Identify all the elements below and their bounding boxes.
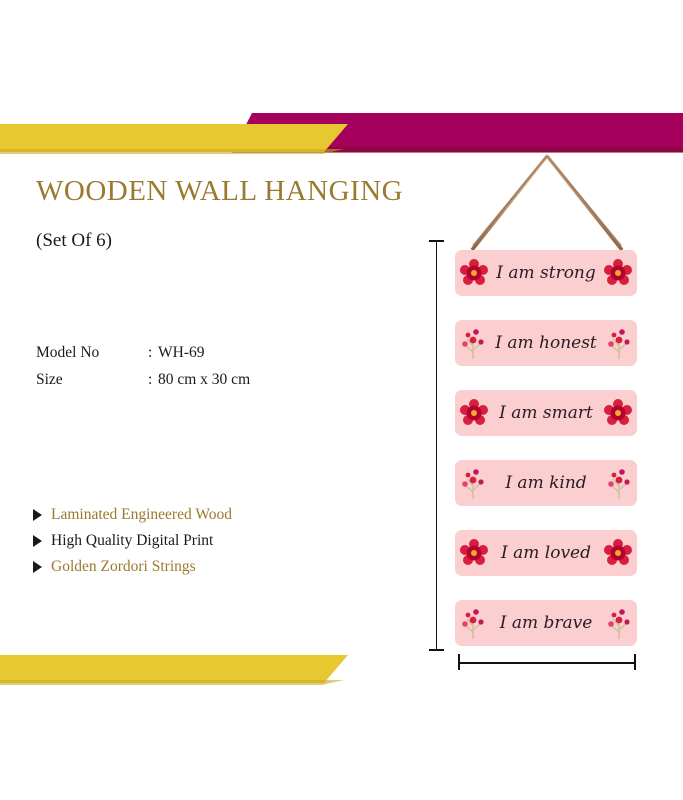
spec-value-model: WH-69 <box>158 344 205 362</box>
list-item: High Quality Digital Print <box>33 532 232 550</box>
list-item: I am strong <box>455 250 637 296</box>
triangle-bullet-icon <box>33 509 42 521</box>
product-illustration: I am strong I am h <box>425 140 675 680</box>
plaque-label: I am honest <box>495 333 597 353</box>
list-item: I am kind <box>455 460 637 506</box>
spec-separator-model: : <box>148 344 158 362</box>
round-flower-icon <box>460 259 488 287</box>
list-item: Laminated Engineered Wood <box>33 506 232 524</box>
spec-row-model: Model No : WH-69 <box>36 344 250 362</box>
list-item: I am smart <box>455 390 637 436</box>
spec-row-size: Size : 80 cm x 30 cm <box>36 371 250 389</box>
round-flower-icon <box>604 399 632 427</box>
feature-label-print: High Quality Digital Print <box>51 532 213 550</box>
list-item: I am honest <box>455 320 637 366</box>
sprig-flower-icon <box>606 606 632 640</box>
product-subtitle: (Set Of 6) <box>36 230 112 252</box>
sprig-flower-icon <box>606 466 632 500</box>
triangle-bullet-icon <box>33 535 42 547</box>
feature-list: Laminated Engineered Wood High Quality D… <box>33 506 232 584</box>
height-dimension-line <box>436 240 437 650</box>
triangle-bullet-icon <box>33 561 42 573</box>
round-flower-icon <box>604 259 632 287</box>
round-flower-icon <box>460 399 488 427</box>
yellow-banner-bottom <box>0 655 348 683</box>
round-flower-icon <box>604 539 632 567</box>
plaque-label: I am kind <box>505 473 586 493</box>
plaque-label: I am smart <box>499 403 593 423</box>
sprig-flower-icon <box>460 326 486 360</box>
height-dimension-cap-bottom <box>429 649 444 651</box>
yellow-banner-top-shadow <box>0 149 344 154</box>
plaque-label: I am loved <box>501 543 591 563</box>
feature-label-material: Laminated Engineered Wood <box>51 506 232 524</box>
sprig-flower-icon <box>460 466 486 500</box>
specification-table: Model No : WH-69 Size : 80 cm x 30 cm <box>36 344 250 398</box>
plaque-label: I am brave <box>500 613 593 633</box>
list-item: I am loved <box>455 530 637 576</box>
list-item: I am brave <box>455 600 637 646</box>
spec-label-size: Size <box>36 371 148 389</box>
spec-separator-size: : <box>148 371 158 389</box>
plaque-label: I am strong <box>496 263 596 283</box>
sprig-flower-icon <box>606 326 632 360</box>
height-dimension-cap-top <box>429 240 444 242</box>
width-dimension-cap-right <box>634 654 636 670</box>
yellow-banner-top <box>0 124 348 152</box>
spec-label-model: Model No <box>36 344 148 362</box>
yellow-banner-bottom-shadow <box>0 680 344 685</box>
product-title: WOODEN WALL HANGING <box>36 175 403 208</box>
width-dimension-cap-left <box>458 654 460 670</box>
sprig-flower-icon <box>460 606 486 640</box>
product-info-card: WOODEN WALL HANGING (Set Of 6) Model No … <box>0 0 683 800</box>
feature-label-strings: Golden Zordori Strings <box>51 558 196 576</box>
list-item: Golden Zordori Strings <box>33 558 232 576</box>
spec-value-size: 80 cm x 30 cm <box>158 371 250 389</box>
round-flower-icon <box>460 539 488 567</box>
width-dimension-line <box>458 662 636 664</box>
